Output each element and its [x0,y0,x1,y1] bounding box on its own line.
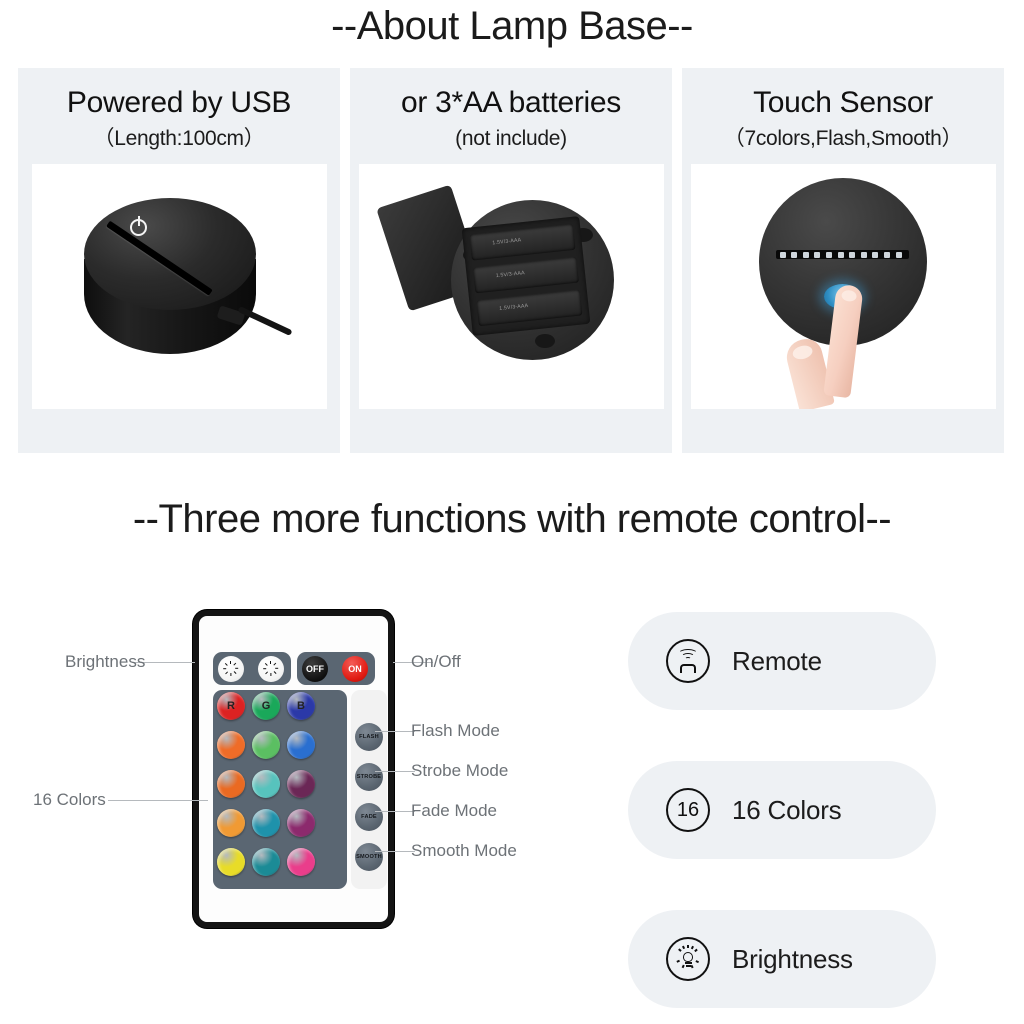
bulb-ray [687,945,689,948]
remote-diagram: OFF ON RGB W FLASH STROBE FADE SMOOTH Br… [193,610,394,928]
callout-16-colors: 16 Colors [33,790,106,810]
sun-ray [233,671,236,674]
color-button-r2c2[interactable] [252,731,280,759]
page-title-lamp-base: --About Lamp Base-- [0,2,1024,50]
remote-glyph [675,649,701,673]
color-button-r4c1[interactable] [217,809,245,837]
bulb-ray [678,949,682,952]
card-subtitle: (not include) [455,122,567,156]
sun-ray [265,663,268,666]
color-button-r[interactable]: R [217,692,245,720]
callout-smooth-mode: Smooth Mode [411,841,517,861]
mode-button-group: FLASH STROBE FADE SMOOTH [351,690,387,889]
battery-slot: 1.5V/3-AAA [472,257,578,294]
feature-pill-list: Remote 16 16 Colors Brightness [628,612,938,1024]
led-dot [896,252,902,258]
led-dot [861,252,867,258]
callout-brightness: Brightness [65,652,145,672]
product-info-page: --About Lamp Base-- Powered by USB （Leng… [0,0,1024,1024]
touch-sensor-photo [691,164,996,409]
leader-line-flash [375,731,415,732]
led-dot [803,252,809,258]
bulb-outline [683,952,693,962]
remote-signal-icon [666,639,710,683]
pill-16-colors[interactable]: 16 16 Colors [628,761,936,859]
card-aa-batteries: or 3*AA batteries (not include) 1.5V/3-A… [350,68,672,453]
sun-ray [223,668,226,669]
color-button-r3c2[interactable] [252,770,280,798]
led-dot [826,252,832,258]
card-touch-sensor: Touch Sensor （7colors,Flash,Smooth） [682,68,1004,453]
leader-line-colors [108,800,208,801]
pill-label: Brightness [732,944,853,975]
card-subtitle: （Length:100cm） [94,122,265,156]
rubber-foot [535,334,555,348]
pill-label: 16 Colors [732,795,841,826]
battery-slot: 1.5V/3-AAA [469,224,575,261]
count-badge-icon: 16 [666,788,710,832]
led-dot [884,252,890,258]
sun-ray [273,671,276,674]
card-title: Touch Sensor [753,84,933,122]
card-powered-by-usb: Powered by USB （Length:100cm） [18,68,340,453]
battery-compartment-photo: 1.5V/3-AAA 1.5V/3-AAA 1.5V/3-AAA [359,164,664,409]
signal-wave-inner [685,657,691,661]
pill-label: Remote [732,646,822,677]
callout-on-off: On/Off [411,652,461,672]
sun-ray [270,673,271,676]
card-title: or 3*AA batteries [401,84,621,122]
on-button[interactable]: ON [342,656,368,682]
bulb-icon [666,937,710,981]
fade-mode-button[interactable]: FADE [355,803,383,831]
bulb-ray [695,960,699,963]
bulb-ray [694,949,698,952]
bulb-glyph [675,946,701,972]
callout-flash-mode: Flash Mode [411,721,500,741]
strobe-mode-button[interactable]: STROBE [355,763,383,791]
usb-lamp-base-photo [32,164,327,409]
sun-ray [225,663,228,666]
feature-card-row: Powered by USB （Length:100cm） or 3*AA ba… [18,68,1004,453]
battery-slot-label: 1.5V/3-AAA [492,237,522,246]
bulb-ray [677,960,681,963]
sun-ray [230,661,231,664]
power-button-group: OFF ON [297,652,375,685]
brightness-down-icon[interactable] [218,656,244,682]
bulb-base-line-2 [686,965,691,967]
sun-ray [270,661,271,664]
bulb-ray [691,946,694,950]
sun-ray [230,673,231,676]
card-title: Powered by USB [67,84,291,122]
color-button-r2c1[interactable] [217,731,245,759]
led-dot [791,252,797,258]
color-button-b[interactable]: B [287,692,315,720]
led-dot [838,252,844,258]
color-button-r5c1[interactable] [217,848,245,876]
sun-ray [273,663,276,666]
card-subtitle: （7colors,Flash,Smooth） [724,122,963,156]
sun-ray [275,668,278,669]
pill-remote[interactable]: Remote [628,612,936,710]
sun-ray [233,663,236,666]
off-button[interactable]: OFF [302,656,328,682]
color-button-r2c3[interactable] [287,731,315,759]
led-dot [814,252,820,258]
color-button-grid: RGB [213,690,347,889]
battery-slot-label: 1.5V/3-AAA [498,303,528,312]
smooth-mode-button[interactable]: SMOOTH [355,843,383,871]
color-button-r4c2[interactable] [252,809,280,837]
color-button-r5c2[interactable] [252,848,280,876]
remote-body-glyph [680,664,696,673]
sun-ray [235,668,238,669]
power-icon [130,219,147,236]
leader-line-smooth [375,851,415,852]
count-badge-value: 16 [677,799,699,822]
callout-strobe-mode: Strobe Mode [411,761,508,781]
sun-ray [225,671,228,674]
pill-brightness[interactable]: Brightness [628,910,936,1008]
led-dot [872,252,878,258]
color-button-r3c1[interactable] [217,770,245,798]
page-title-remote-functions: --Three more functions with remote contr… [0,495,1024,543]
color-button-r5c3[interactable] [287,848,315,876]
callout-fade-mode: Fade Mode [411,801,497,821]
remote-control[interactable]: OFF ON RGB W FLASH STROBE FADE SMOOTH [193,610,394,928]
color-button-r3c3[interactable] [287,770,315,798]
brightness-button-group [213,652,291,685]
battery-slot-label: 1.5V/3-AAA [495,270,525,279]
led-dot [849,252,855,258]
led-strip [776,250,909,259]
battery-slot: 1.5V/3-AAA [476,289,582,326]
led-dot [780,252,786,258]
bulb-ray [682,946,685,950]
bulb-base-line-1 [685,962,692,964]
sun-ray [265,671,268,674]
sun-glyph [225,662,238,675]
battery-cavity: 1.5V/3-AAA 1.5V/3-AAA 1.5V/3-AAA [461,216,590,336]
leader-line-strobe [375,771,415,772]
brightness-up-icon[interactable] [258,656,284,682]
sun-ray [263,668,266,669]
sun-glyph [265,662,278,675]
lamp-base-top [84,198,256,310]
color-button-g[interactable]: G [252,692,280,720]
flash-mode-button[interactable]: FLASH [355,723,383,751]
leader-line-fade [375,811,415,812]
bulb-ray [691,964,694,968]
color-button-r4c3[interactable] [287,809,315,837]
